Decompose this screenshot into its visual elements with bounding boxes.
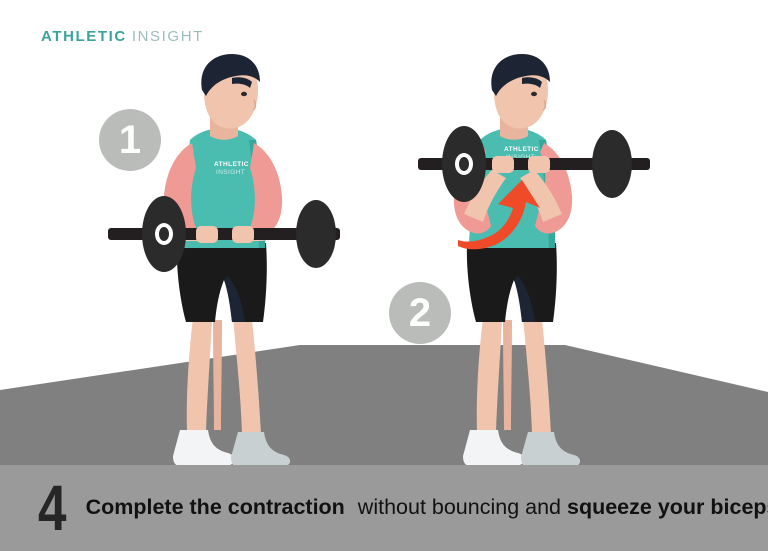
- brand-logo: ATHLETICINSIGHT: [41, 29, 204, 44]
- svg-text:1: 1: [119, 118, 141, 162]
- step-badge-2: 2: [389, 282, 451, 344]
- brand-word-insight: INSIGHT: [132, 28, 204, 45]
- svg-text:ATHLETIC: ATHLETIC: [504, 146, 539, 153]
- brand-word-athletic: ATHLETIC: [41, 28, 127, 45]
- step-number: 4: [38, 476, 65, 540]
- svg-text:ATHLETIC: ATHLETIC: [214, 161, 249, 168]
- caption-part-1: Complete the contraction: [86, 495, 345, 519]
- step-badge-1: 1: [99, 109, 161, 171]
- caption-part-2: without bouncing and: [358, 495, 561, 519]
- svg-text:2: 2: [409, 291, 431, 335]
- svg-text:INSIGHT: INSIGHT: [216, 169, 245, 176]
- caption-bar: 4 Complete the contraction without bounc…: [0, 465, 768, 551]
- caption-part-3: squeeze your biceps: [567, 495, 768, 519]
- shirt-logo-1: ATHLETIC INSIGHT: [214, 161, 249, 176]
- exercise-infographic: 1: [0, 0, 768, 551]
- caption-text: Complete the contraction without bouncin…: [86, 497, 768, 519]
